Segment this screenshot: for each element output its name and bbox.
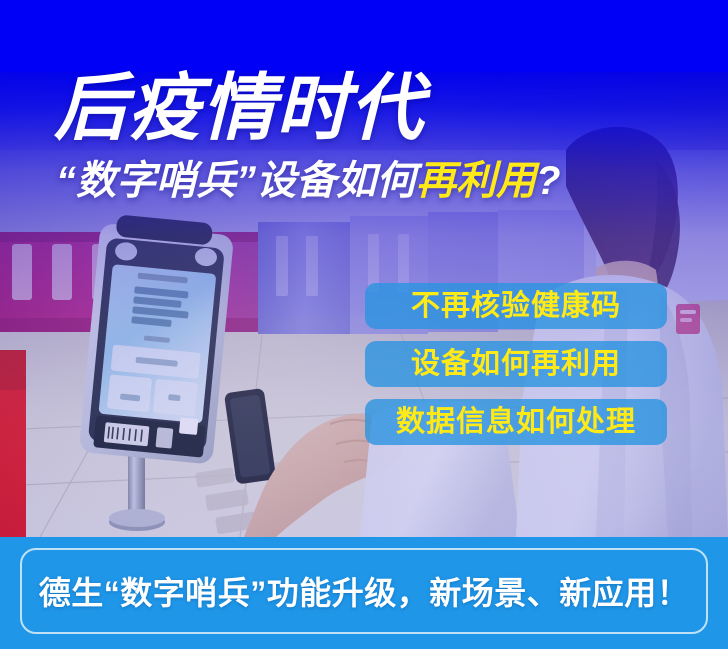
page-subtitle: “数字哨兵”设备如何再利用? [56, 161, 694, 203]
page-title: 后疫情时代 [54, 74, 694, 144]
feature-pill-label: 设备如何再利用 [411, 350, 621, 379]
subtitle-prefix: “数字哨兵”设备如何 [56, 159, 416, 203]
feature-pill[interactable]: 设备如何再利用 [365, 341, 667, 387]
bottom-banner: 德生“数字哨兵”功能升级，新场景、新应用！ [0, 537, 728, 649]
top-blue-band [0, 0, 728, 72]
headline-block: 后疫情时代 “数字哨兵”设备如何再利用? [54, 74, 694, 203]
bottom-banner-frame: 德生“数字哨兵”功能升级，新场景、新应用！ [20, 548, 708, 634]
poster-root: 后疫情时代 “数字哨兵”设备如何再利用? 不再核验健康码 设备如何再利用 数据信… [0, 0, 728, 649]
feature-pill-list: 不再核验健康码 设备如何再利用 数据信息如何处理 [365, 283, 667, 445]
feature-pill[interactable]: 不再核验健康码 [365, 283, 667, 329]
subtitle-question-mark: ? [536, 159, 560, 203]
subtitle-highlight: 再利用 [416, 159, 536, 203]
feature-pill-label: 数据信息如何处理 [396, 408, 636, 437]
bottom-banner-text: 德生“数字哨兵”功能升级，新场景、新应用！ [39, 568, 690, 614]
feature-pill-label: 不再核验健康码 [411, 292, 621, 321]
feature-pill[interactable]: 数据信息如何处理 [365, 399, 667, 445]
